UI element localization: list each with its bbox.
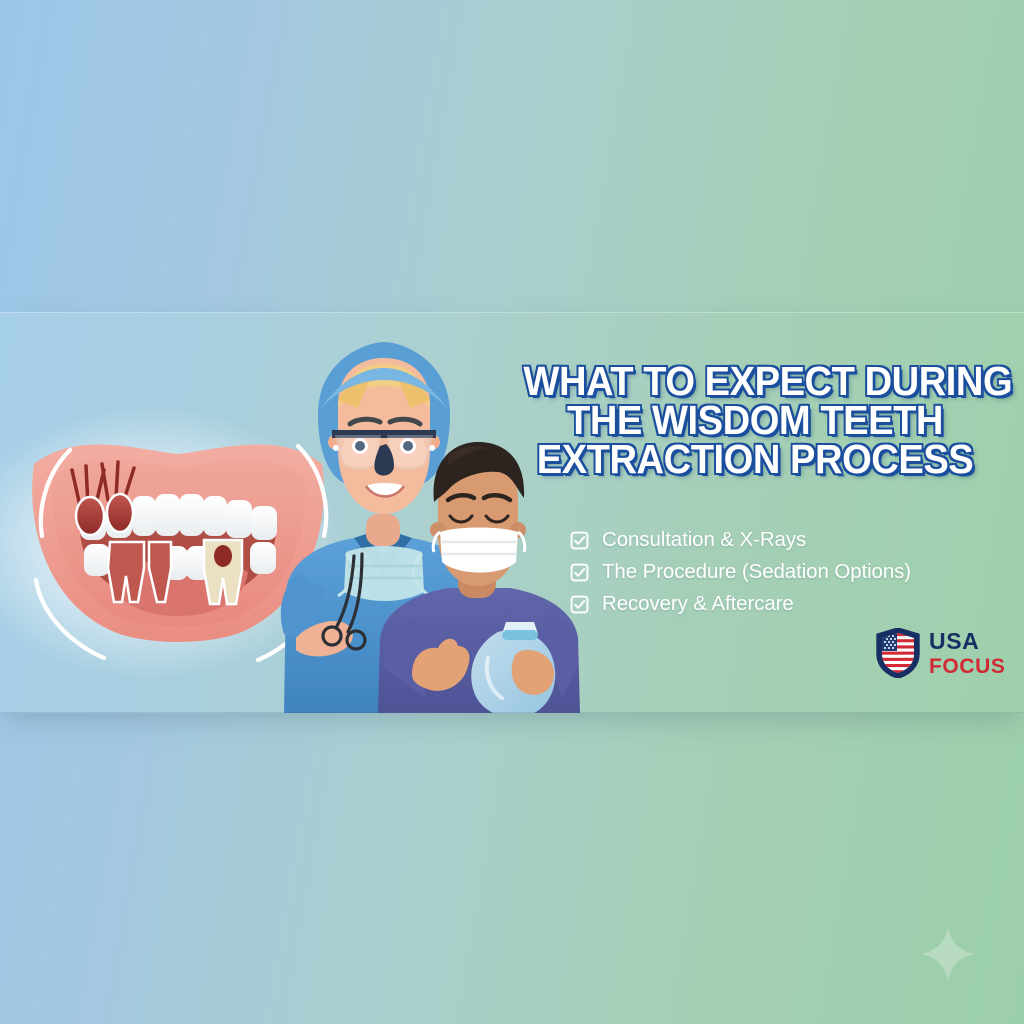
title-line-2: THE WISDOM TEETH xyxy=(523,401,986,440)
sparkle-decoration xyxy=(920,926,976,982)
bullet-list: Consultation & X-Rays The Procedure (Sed… xyxy=(570,524,1000,620)
bullet-label: Consultation & X-Rays xyxy=(602,528,806,552)
usa-flag-shield-icon xyxy=(876,628,920,678)
checkbox-checked-icon xyxy=(570,563,589,582)
list-item: The Procedure (Sedation Options) xyxy=(570,556,1000,588)
title-line-3: EXTRACTION PROCESS xyxy=(523,440,986,479)
wisdom-teeth-extraction-banner: WHAT TO EXPECT DURING THE WISDOM TEETH E… xyxy=(0,312,1024,713)
logo-line-usa: USA xyxy=(929,630,1006,653)
page-title: WHAT TO EXPECT DURING THE WISDOM TEETH E… xyxy=(523,362,986,479)
four-point-star-sparkle-icon xyxy=(920,926,976,982)
list-item: Recovery & Aftercare xyxy=(570,588,1000,620)
logo-line-focus: FOCUS xyxy=(929,656,1006,677)
logo-wordmark: USA FOCUS xyxy=(929,630,1006,677)
bullet-label: Recovery & Aftercare xyxy=(602,592,794,616)
checkbox-checked-icon xyxy=(570,531,589,550)
bullet-label: The Procedure (Sedation Options) xyxy=(602,560,911,584)
list-item: Consultation & X-Rays xyxy=(570,524,1000,556)
checkbox-checked-icon xyxy=(570,595,589,614)
usa-focus-logo[interactable]: USA FOCUS xyxy=(876,628,1006,678)
title-line-1: WHAT TO EXPECT DURING xyxy=(523,362,986,401)
